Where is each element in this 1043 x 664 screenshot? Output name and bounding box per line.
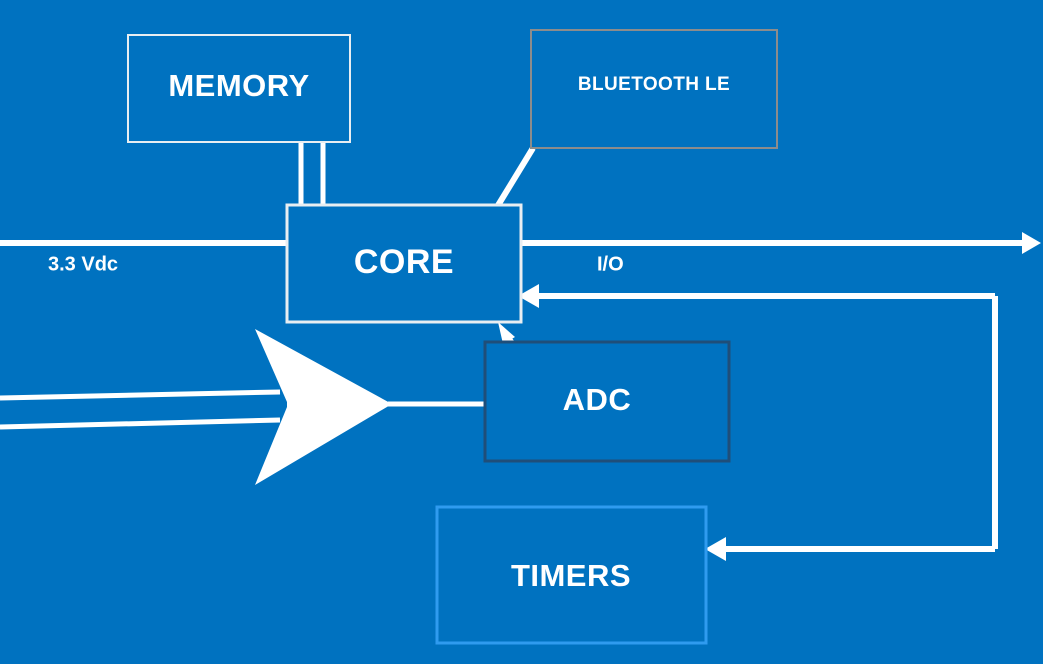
block-core[interactable]: CORE <box>287 205 521 322</box>
block-memory[interactable]: MEMORY <box>128 35 350 142</box>
connection-io-out <box>519 232 1041 254</box>
core-label: CORE <box>354 243 454 281</box>
amplifier-triangle <box>255 329 392 485</box>
diagram-svg: MEMORY BLUETOOTH LE CORE ADC TIMERS 3.3 … <box>0 0 1043 664</box>
io-label: I/O <box>597 253 624 275</box>
block-adc[interactable]: ADC <box>485 342 729 461</box>
connection-memory-bus <box>301 140 323 208</box>
timers-label: TIMERS <box>511 558 631 593</box>
block-diagram-canvas: MEMORY BLUETOOTH LE CORE ADC TIMERS 3.3 … <box>0 0 1043 664</box>
adc-label: ADC <box>563 382 632 417</box>
block-bluetooth-le[interactable]: BLUETOOTH LE <box>531 30 777 148</box>
supply-voltage-label: 3.3 Vdc <box>48 253 118 275</box>
block-timers[interactable]: TIMERS <box>437 507 706 643</box>
bluetooth-link-line <box>497 148 533 207</box>
connection-bluetooth-link <box>497 148 533 207</box>
sensor-input-line-a <box>0 392 280 398</box>
io-out-arrowhead <box>1022 232 1041 254</box>
sensor-input-line-b <box>0 420 280 427</box>
feedback-to-timers-arrowhead <box>705 537 726 561</box>
memory-label: MEMORY <box>168 68 309 103</box>
bluetooth-le-label: BLUETOOTH LE <box>578 74 730 95</box>
connection-sensor-inputs <box>0 392 280 427</box>
